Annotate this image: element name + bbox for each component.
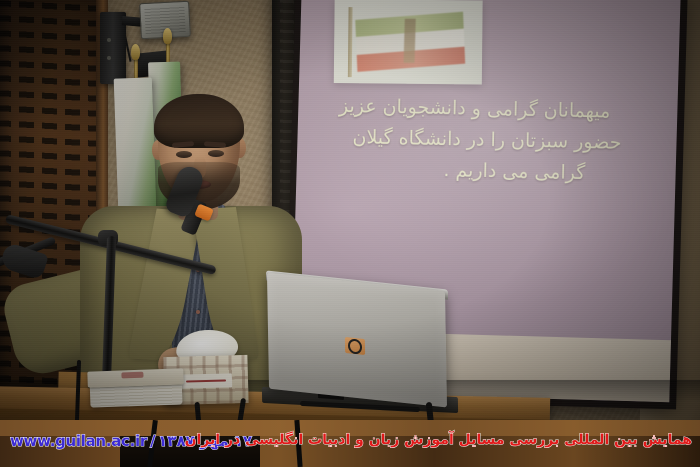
caption-bar: www.guilan.ac.ir / ۱۷ مهر ۱۳۸۷ همایش بین… [0, 420, 700, 467]
website-url[interactable]: www.guilan.ac.ir [10, 432, 147, 450]
photo-vignette [0, 0, 700, 430]
conference-photo: میهمانان گرامی و دانشجویان عزیز حضور سبز… [0, 0, 700, 467]
event-title: همایش بین المللی بررسی مسایل آموزش زبان … [185, 432, 692, 448]
caption-separator: / [150, 432, 155, 450]
